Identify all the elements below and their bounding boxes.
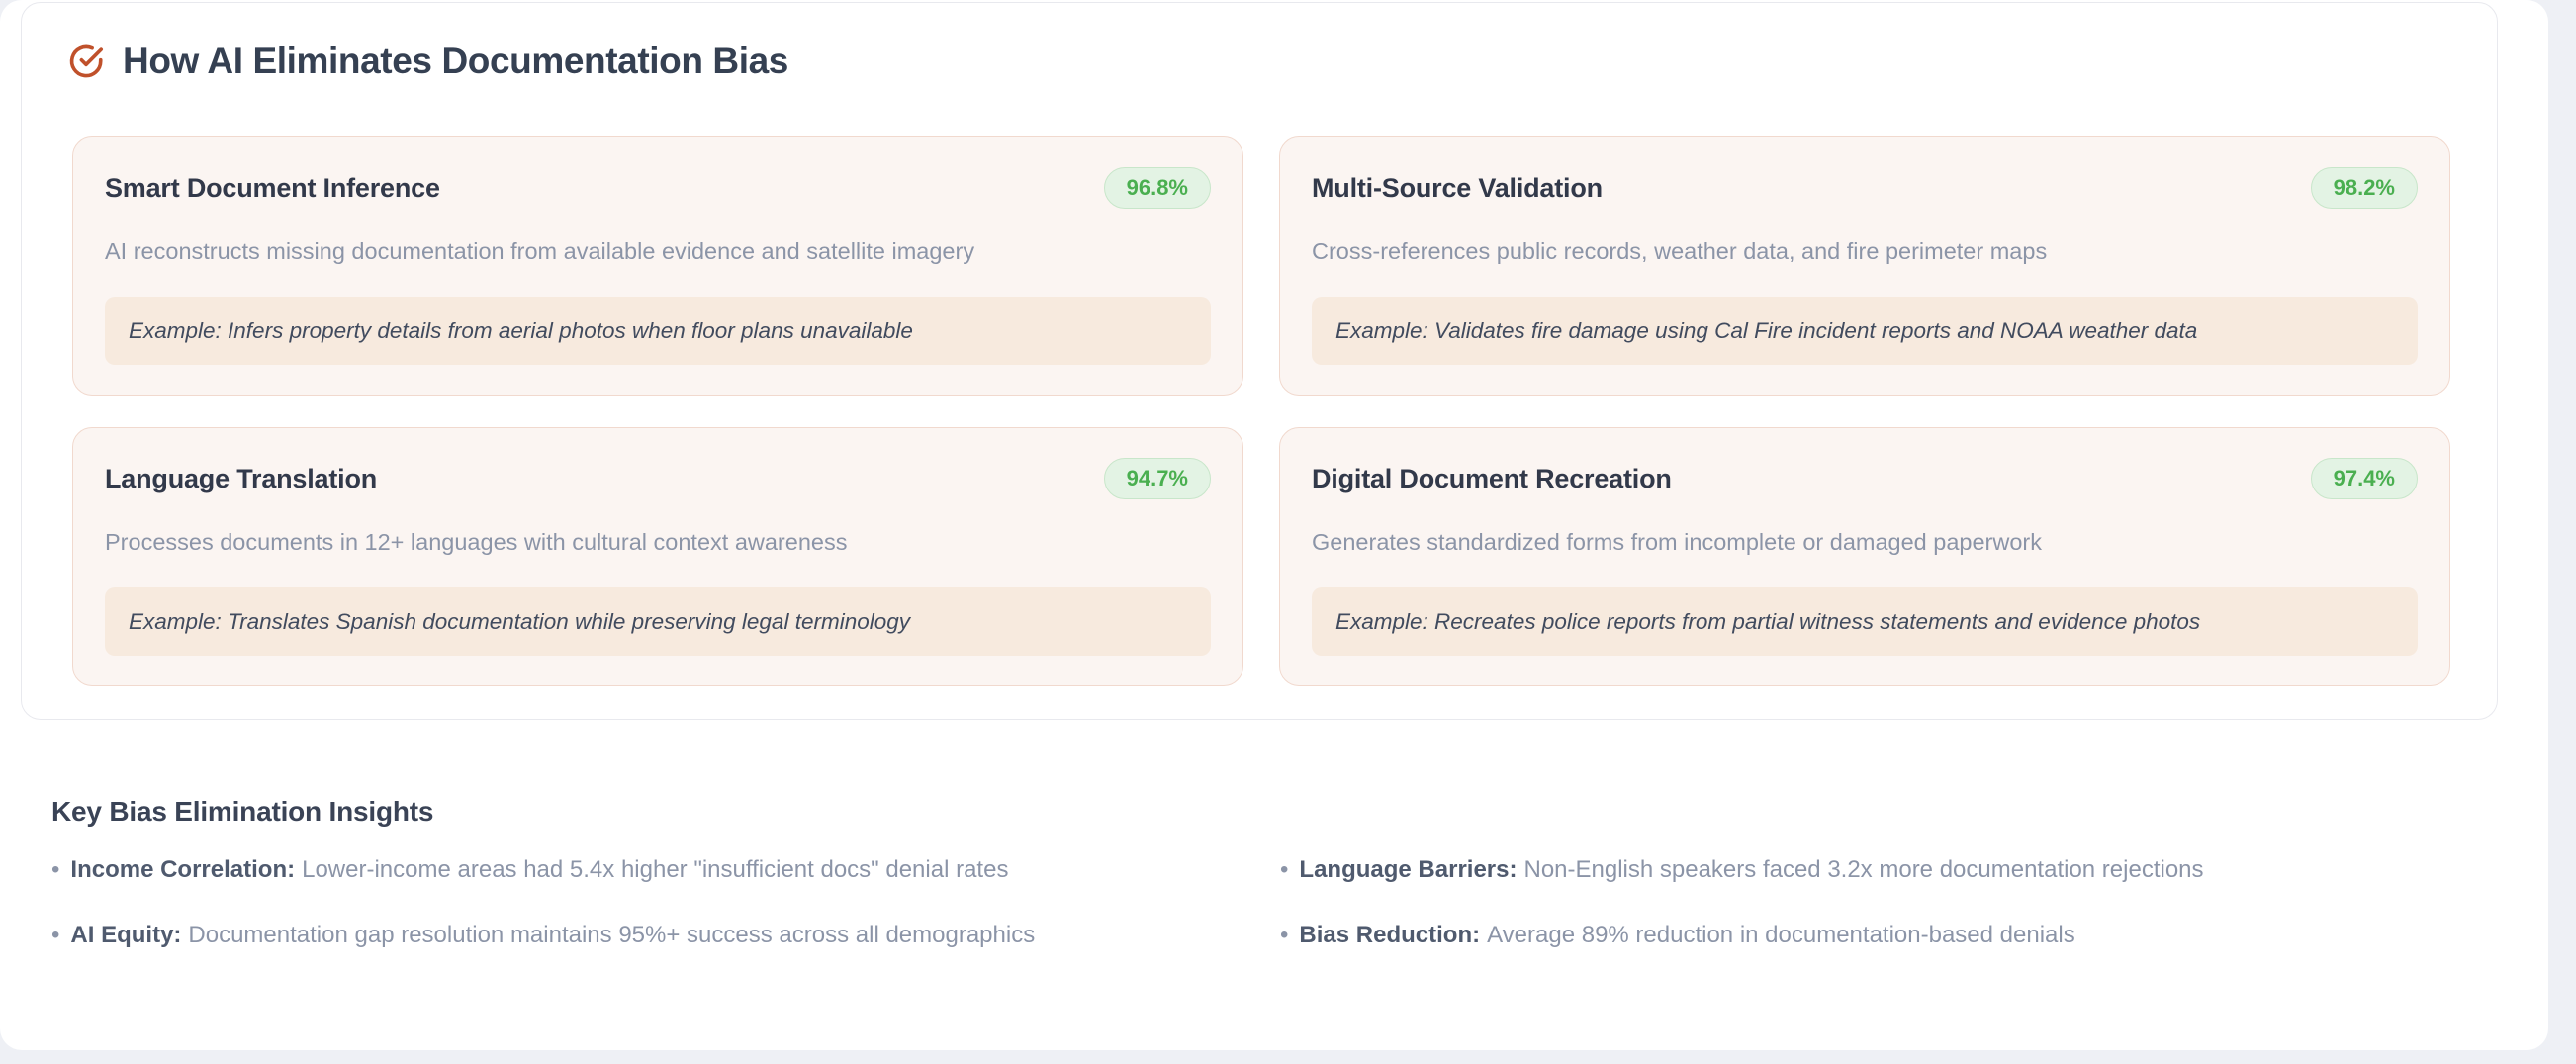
- bullet-icon: •: [51, 924, 59, 947]
- insight-text: Non-English speakers faced 3.2x more doc…: [1523, 856, 2203, 883]
- documentation-bias-section: How AI Eliminates Documentation Bias Sma…: [21, 2, 2498, 720]
- insight-item: • Language Barriers:Non-English speakers…: [1280, 854, 2455, 886]
- insight-item: • AI Equity:Documentation gap resolution…: [51, 920, 1227, 951]
- method-description: AI reconstructs missing documentation fr…: [105, 236, 1211, 268]
- method-title: Language Translation: [105, 464, 377, 494]
- bullet-icon: •: [1280, 858, 1288, 882]
- method-card[interactable]: Smart Document Inference 96.8% AI recons…: [72, 136, 1243, 396]
- method-card-header: Multi-Source Validation 98.2%: [1312, 167, 2418, 209]
- method-card-header: Language Translation 94.7%: [105, 458, 1211, 499]
- method-example: Example: Infers property details from ae…: [105, 297, 1211, 365]
- page-title: How AI Eliminates Documentation Bias: [123, 43, 788, 79]
- method-example: Example: Validates fire damage using Cal…: [1312, 297, 2418, 365]
- method-description: Processes documents in 12+ languages wit…: [105, 527, 1211, 559]
- method-card-header: Smart Document Inference 96.8%: [105, 167, 1211, 209]
- insight-text: Lower-income areas had 5.4x higher "insu…: [302, 856, 1008, 883]
- insight-item: • Bias Reduction:Average 89% reduction i…: [1280, 920, 2455, 951]
- insight-label: Income Correlation:: [70, 856, 295, 883]
- method-description: Cross-references public records, weather…: [1312, 236, 2418, 268]
- insight-label: Bias Reduction:: [1299, 922, 1480, 948]
- method-title: Digital Document Recreation: [1312, 464, 1672, 494]
- method-card[interactable]: Multi-Source Validation 98.2% Cross-refe…: [1279, 136, 2450, 396]
- bullet-icon: •: [1280, 924, 1288, 947]
- method-title: Smart Document Inference: [105, 173, 440, 204]
- accuracy-badge: 98.2%: [2311, 167, 2418, 209]
- method-example: Example: Recreates police reports from p…: [1312, 587, 2418, 656]
- bullet-icon: •: [51, 858, 59, 882]
- insight-label: AI Equity:: [70, 922, 181, 948]
- insight-label: Language Barriers:: [1299, 856, 1517, 883]
- method-card[interactable]: Language Translation 94.7% Processes doc…: [72, 427, 1243, 686]
- section-header: How AI Eliminates Documentation Bias: [22, 3, 2497, 80]
- insights-section: Key Bias Elimination Insights • Income C…: [51, 796, 2455, 952]
- insight-text: Documentation gap resolution maintains 9…: [188, 922, 1035, 948]
- insights-title: Key Bias Elimination Insights: [51, 796, 2455, 828]
- check-circle-icon: [67, 41, 105, 80]
- method-example: Example: Translates Spanish documentatio…: [105, 587, 1211, 656]
- accuracy-badge: 97.4%: [2311, 458, 2418, 499]
- method-title: Multi-Source Validation: [1312, 173, 1603, 204]
- accuracy-badge: 94.7%: [1104, 458, 1211, 499]
- method-card[interactable]: Digital Document Recreation 97.4% Genera…: [1279, 427, 2450, 686]
- accuracy-badge: 96.8%: [1104, 167, 1211, 209]
- insights-grid: • Income Correlation:Lower-income areas …: [51, 854, 2455, 952]
- methods-grid: Smart Document Inference 96.8% AI recons…: [72, 136, 2450, 686]
- insight-text: Average 89% reduction in documentation-b…: [1487, 922, 2075, 948]
- method-description: Generates standardized forms from incomp…: [1312, 527, 2418, 559]
- insight-item: • Income Correlation:Lower-income areas …: [51, 854, 1227, 886]
- page-panel: How AI Eliminates Documentation Bias Sma…: [0, 0, 2548, 1050]
- method-card-header: Digital Document Recreation 97.4%: [1312, 458, 2418, 499]
